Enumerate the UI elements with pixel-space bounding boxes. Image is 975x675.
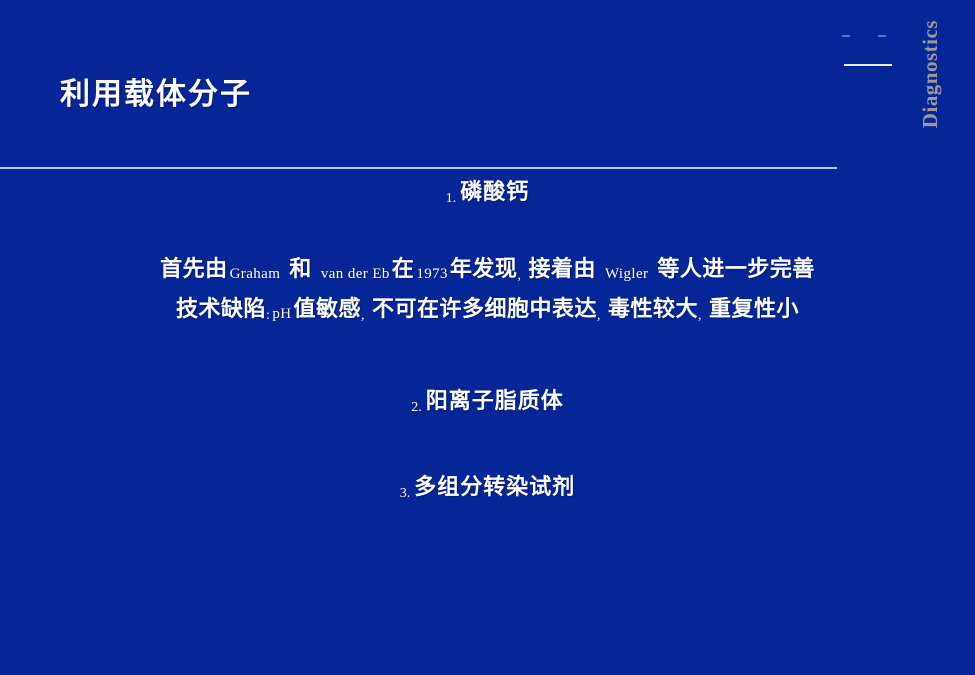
brand-dash-left-icon bbox=[842, 35, 850, 37]
line1-seg3: 在 bbox=[392, 256, 415, 281]
brand-dash-right-icon bbox=[878, 35, 886, 37]
brand-logo-block: Diagnostics bbox=[830, 0, 975, 160]
line1-name-van-der-eb: van der Eb bbox=[319, 266, 392, 282]
line2-comma-1: , bbox=[361, 308, 365, 323]
list-item-3-number: 3. bbox=[400, 486, 411, 501]
line2-ph-label: pH bbox=[270, 306, 293, 322]
line1-seg5: 接着由 bbox=[528, 256, 596, 281]
brand-wordmark: Diagnostics bbox=[918, 0, 943, 22]
line2-comma-2: , bbox=[597, 308, 601, 323]
list-item-3: 3.多组分转染试剂 bbox=[0, 473, 975, 502]
list-item-1-number: 1. bbox=[446, 191, 457, 206]
list-item-1-label: 磷酸钙 bbox=[460, 179, 529, 204]
line1-year: 1973 bbox=[414, 266, 450, 282]
line1-seg6: 等人进一步完善 bbox=[657, 256, 815, 281]
line1-name-graham: Graham bbox=[228, 266, 283, 282]
slide-body: 1.磷酸钙 首先由Graham和van der Eb在1973年发现,接着由Wi… bbox=[0, 178, 975, 502]
line1-seg2: 和 bbox=[289, 256, 312, 281]
brand-wordmark-text: Diagnostics bbox=[918, 20, 943, 140]
line2-seg1: 技术缺陷 bbox=[176, 296, 266, 321]
slide-title: 利用载体分子 bbox=[60, 78, 252, 111]
line1-seg1: 首先由 bbox=[160, 256, 228, 281]
line2-seg4: 毒性较大 bbox=[608, 296, 698, 321]
list-item-1: 1.磷酸钙 bbox=[0, 178, 975, 207]
title-divider-rule bbox=[0, 167, 837, 169]
list-item-3-label: 多组分转染试剂 bbox=[414, 474, 575, 499]
line2-seg3: 不可在许多细胞中表达 bbox=[372, 296, 597, 321]
presentation-slide: Diagnostics 利用载体分子 1.磷酸钙 首先由Graham和van d… bbox=[0, 0, 975, 675]
body-paragraph: 首先由Graham和van der Eb在1973年发现,接着由Wigler等人… bbox=[0, 249, 975, 329]
list-item-2: 2.阳离子脂质体 bbox=[0, 387, 975, 416]
list-item-2-number: 2. bbox=[411, 400, 422, 415]
line1-name-wigler: Wigler bbox=[603, 266, 650, 282]
line2-seg5: 重复性小 bbox=[709, 296, 799, 321]
line1-seg4: 年发现 bbox=[450, 256, 518, 281]
body-paragraph-line-1: 首先由Graham和van der Eb在1973年发现,接着由Wigler等人… bbox=[70, 249, 905, 289]
brand-underline-rule bbox=[844, 64, 892, 66]
line2-comma-3: , bbox=[698, 308, 702, 323]
line2-seg2: 值敏感 bbox=[293, 296, 361, 321]
list-item-2-label: 阳离子脂质体 bbox=[426, 388, 564, 413]
body-paragraph-line-2: 技术缺陷:pH值敏感,不可在许多细胞中表达,毒性较大,重复性小 bbox=[70, 289, 905, 329]
line1-comma-1: , bbox=[517, 268, 521, 283]
